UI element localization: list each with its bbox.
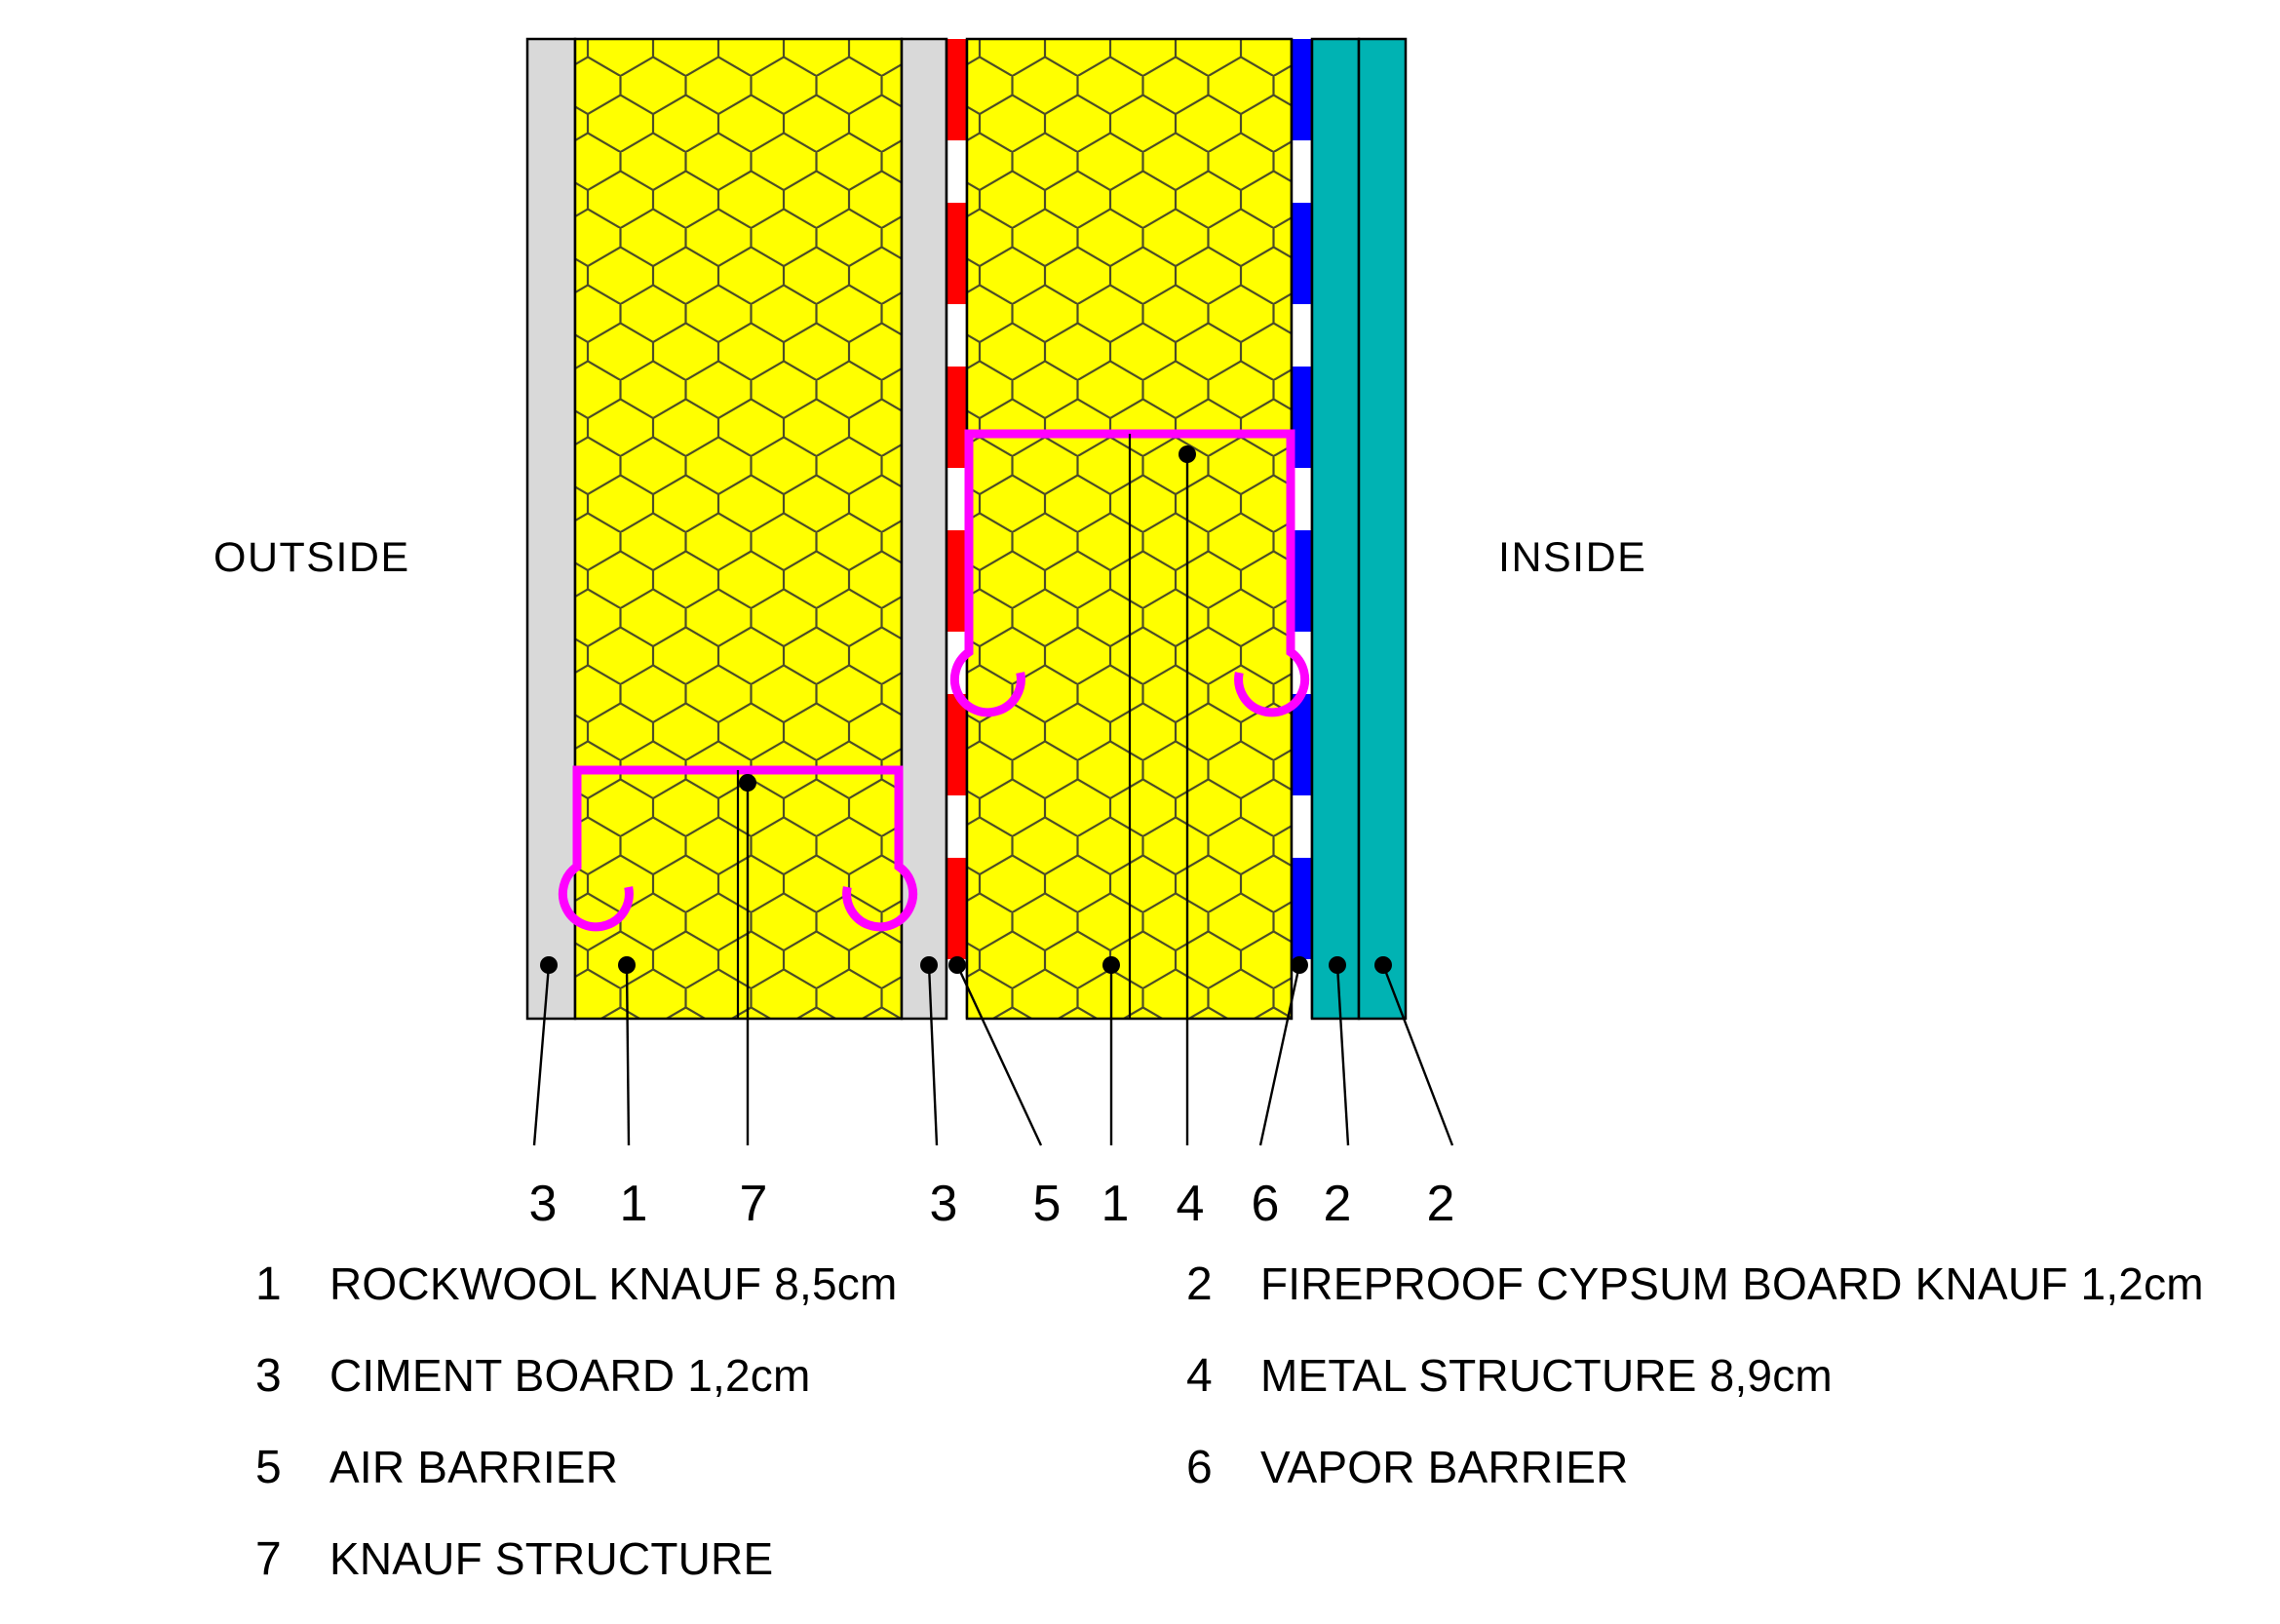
legend-label: AIR BARRIER xyxy=(329,1441,618,1493)
barrier-dash xyxy=(947,694,967,795)
legend-column-right: 2FIREPROOF CYPSUM BOARD KNAUF 1,2cm4META… xyxy=(1186,1257,2259,1532)
legend-label: VAPOR BARRIER xyxy=(1260,1441,1629,1493)
leader-dot xyxy=(1291,956,1308,974)
callout-number: 4 xyxy=(1161,1175,1219,1233)
legend-row: 3CIMENT BOARD 1,2cm xyxy=(255,1349,1230,1441)
legend-row: 2FIREPROOF CYPSUM BOARD KNAUF 1,2cm xyxy=(1186,1257,2259,1349)
legend-row: 4METAL STRUCTURE 8,9cm xyxy=(1186,1349,2259,1441)
wall-section-diagram: OUTSIDE INSIDE 3173514622 1ROCKWOOL KNAU… xyxy=(0,0,2280,1611)
layer-air-barrier xyxy=(947,39,967,1019)
legend-label: ROCKWOOL KNAUF 8,5cm xyxy=(329,1257,897,1310)
callout-number: 1 xyxy=(1086,1175,1144,1233)
legend-row: 7KNAUF STRUCTURE xyxy=(255,1532,1230,1624)
barrier-dash xyxy=(1292,694,1312,795)
leader-dot xyxy=(739,774,756,792)
legend-label: METAL STRUCTURE 8,9cm xyxy=(1260,1349,1833,1402)
barrier-dash xyxy=(947,530,967,632)
leader-dot xyxy=(1329,956,1346,974)
barrier-dash xyxy=(947,203,967,304)
callout-number: 3 xyxy=(514,1175,572,1233)
leader-dot xyxy=(540,956,558,974)
inside-label: INSIDE xyxy=(1498,534,1646,582)
leader-dot xyxy=(1102,956,1120,974)
legend-row: 1ROCKWOOL KNAUF 8,5cm xyxy=(255,1257,1230,1349)
legend-key: 4 xyxy=(1186,1349,1260,1403)
callout-number: 2 xyxy=(1411,1175,1470,1233)
callout-number: 3 xyxy=(914,1175,973,1233)
legend-row: 6VAPOR BARRIER xyxy=(1186,1441,2259,1532)
legend-key: 6 xyxy=(1186,1441,1260,1494)
legend-key: 3 xyxy=(255,1349,329,1403)
legend-key: 2 xyxy=(1186,1257,1260,1311)
outside-label: OUTSIDE xyxy=(213,534,410,582)
leader-dot xyxy=(948,956,966,974)
leader-dot xyxy=(1179,445,1196,463)
legend-label: KNAUF STRUCTURE xyxy=(329,1532,773,1585)
callout-number: 5 xyxy=(1018,1175,1076,1233)
callout-number: 1 xyxy=(604,1175,663,1233)
barrier-dash xyxy=(1292,203,1312,304)
barrier-dash xyxy=(947,858,967,959)
legend-key: 1 xyxy=(255,1257,329,1311)
barrier-dash xyxy=(1292,39,1312,140)
leader-dot xyxy=(618,956,636,974)
legend-column-left: 1ROCKWOOL KNAUF 8,5cm3CIMENT BOARD 1,2cm… xyxy=(255,1257,1230,1624)
barrier-dash xyxy=(1292,858,1312,959)
layer-gypsum-board-1 xyxy=(1312,39,1359,1019)
leader-line xyxy=(1383,965,1452,1145)
legend-label: FIREPROOF CYPSUM BOARD KNAUF 1,2cm xyxy=(1260,1257,2204,1310)
leader-dot xyxy=(920,956,938,974)
layer-solid xyxy=(1312,39,1359,1019)
leader-dot xyxy=(1374,956,1392,974)
barrier-dash xyxy=(947,39,967,140)
legend-row: 5AIR BARRIER xyxy=(255,1441,1230,1532)
callout-number: 2 xyxy=(1308,1175,1367,1233)
legend-key: 5 xyxy=(255,1441,329,1494)
callout-number: 7 xyxy=(724,1175,783,1233)
layer-solid xyxy=(1359,39,1406,1019)
legend-key: 7 xyxy=(255,1532,329,1586)
barrier-dash xyxy=(947,367,967,468)
legend-label: CIMENT BOARD 1,2cm xyxy=(329,1349,811,1402)
layer-gypsum-board-2 xyxy=(1359,39,1406,1019)
callout-number: 6 xyxy=(1236,1175,1295,1233)
